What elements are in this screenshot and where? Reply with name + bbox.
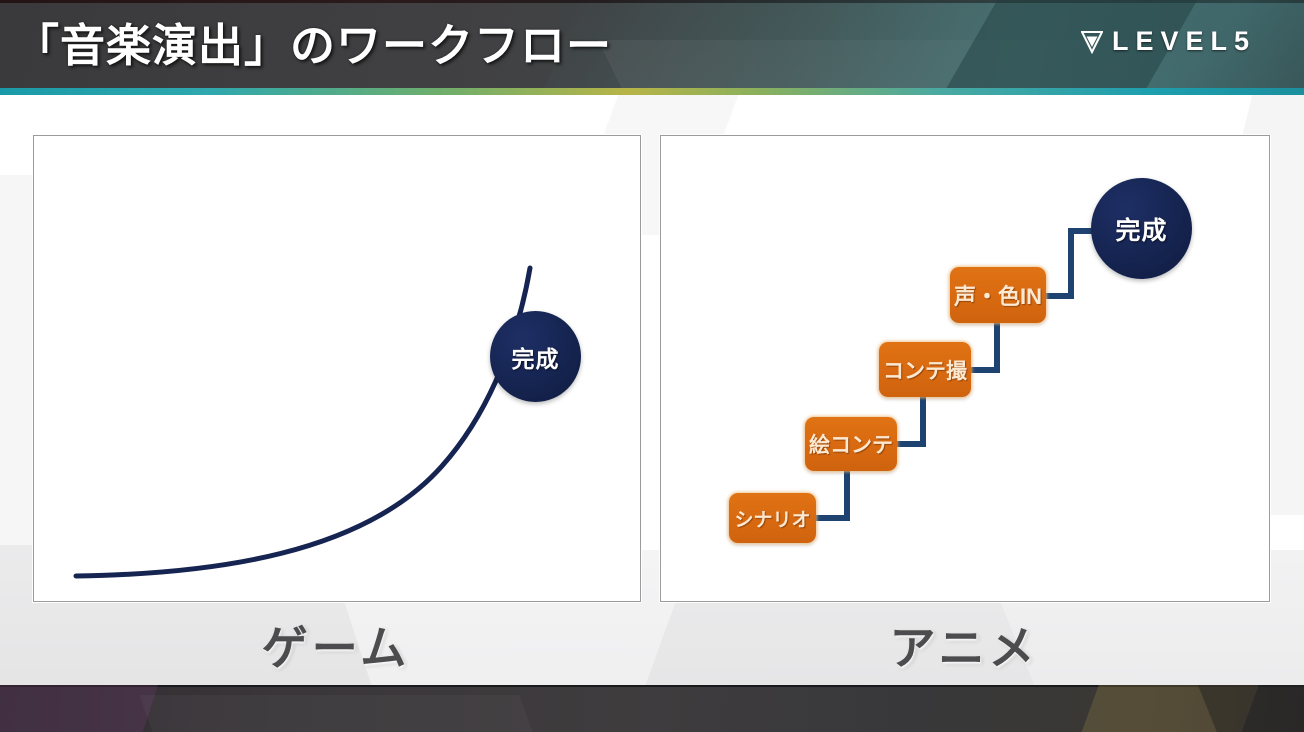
page-title: 「音楽演出」のワークフロー [14,9,612,74]
level5-logo-text: LEVEL5 [1112,26,1256,57]
anime-step-box-2: 絵コンテ [805,417,897,471]
anime-step-box-3: コンテ撮 [879,342,971,397]
panel-caption-anime: アニメ [660,612,1268,678]
slide-root: 「音楽演出」のワークフロー LEVEL5 完成 ゲーム [0,0,1304,732]
anime-step-box-1: シナリオ [729,493,816,543]
level5-triangle-mark-icon [1081,30,1103,54]
slide-footer-bar [0,685,1304,732]
panel-caption-game: ゲーム [33,612,639,678]
anime-step-box-4: 声・色IN [950,267,1046,323]
anime-goal-node: 完成 [1091,178,1192,279]
game-goal-node: 完成 [490,311,581,402]
game-goal-label: 完成 [512,340,560,374]
anime-step-label-1: シナリオ [734,505,810,532]
header-accent-bar [0,88,1304,95]
footer-facet-light [139,695,541,732]
anime-goal-label: 完成 [1115,211,1167,247]
game-exponential-curve [76,268,530,576]
panel-game: 完成 [33,135,641,602]
anime-step-label-2: 絵コンテ [809,429,893,459]
anime-step-label-4: 声・色IN [954,279,1042,311]
footer-facet-purple [0,685,160,732]
footer-facet-dark [1198,685,1304,732]
slide-header: 「音楽演出」のワークフロー LEVEL5 [0,0,1304,88]
anime-step-label-3: コンテ撮 [883,355,967,385]
level5-logo: LEVEL5 [1081,26,1256,57]
